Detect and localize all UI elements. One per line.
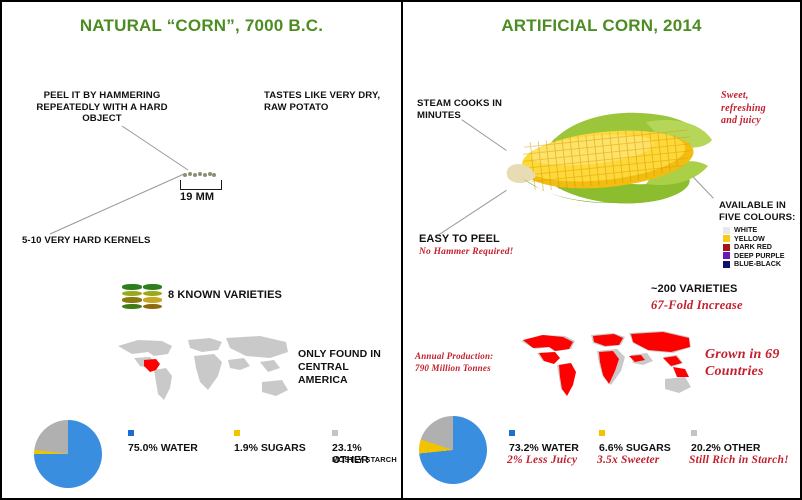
panel-artificial-corn: ARTIFICIAL CORN, 2014 STEAM COOKS IN MIN… [401, 2, 800, 498]
production-line-1: Annual Production: [415, 350, 535, 362]
world-map-svg-right [513, 327, 699, 403]
production-line-2: 790 Million Tonnes [415, 362, 535, 374]
corn-cob-photo [496, 106, 720, 214]
swatch-dark-red [723, 244, 730, 251]
left-panel-title: NATURAL “CORN”, 7000 B.C. [2, 16, 401, 36]
legend-sub-other-right: Still Rich in Starch! [689, 454, 789, 466]
colour-row-blue-black: BLUE-BLACK [723, 260, 785, 269]
ancient-corn-cob-icon [183, 172, 216, 178]
legend-swatch-sugars-right [599, 430, 605, 436]
legend-label-sugars: 1.9% SUGARS [234, 442, 306, 454]
legend-label-other-right: 20.2% OTHER [691, 442, 760, 454]
panel-natural-corn: NATURAL “CORN”, 7000 B.C. PEEL IT BY HAM… [2, 2, 401, 498]
swatch-yellow [723, 235, 730, 242]
script-sweet-refreshing: Sweet, refreshing and juicy [721, 90, 801, 128]
grown-line-2: Countries [705, 363, 801, 380]
pie-chart-natural-composition [34, 420, 102, 488]
label-easy-to-peel: EASY TO PEEL [419, 234, 539, 246]
infographic-root: NATURAL “CORN”, 7000 B.C. PEEL IT BY HAM… [0, 0, 802, 500]
label-hard-kernels: 5-10 VERY HARD KERNELS [22, 235, 202, 247]
label-8-known-varieties: 8 KNOWN VARIETIES [168, 290, 328, 302]
script-grown-in-69-countries: Grown in 69 Countries [705, 346, 801, 380]
legend-label-water: 75.0% WATER [128, 442, 198, 454]
legend-label-sugars-right: 6.6% SUGARS [599, 442, 671, 454]
script-no-hammer-required: No Hammer Required! [419, 247, 559, 257]
legend-sub-water-right: 2% Less Juicy [507, 454, 577, 466]
label-taste: TASTES LIKE VERY DRY, RAW POTATO [264, 90, 394, 113]
legend-sub-other: MOSTLY STARCH [332, 455, 397, 464]
legend-swatch-other [332, 430, 338, 436]
measure-brace-19mm [180, 180, 222, 190]
legend-swatch-water-right [509, 430, 515, 436]
script-line-2: refreshing [721, 103, 801, 116]
world-map-natural [110, 332, 296, 404]
script-line-3: and juicy [721, 115, 801, 128]
grown-line-1: Grown in 69 [705, 346, 801, 363]
label-200-varieties: ~200 VARIETIES [651, 284, 791, 296]
label-size-19mm: 19 MM [180, 192, 240, 204]
legend-label-water-right: 73.2% WATER [509, 442, 579, 454]
world-map-svg [110, 332, 296, 404]
colour-label-blue-black: BLUE-BLACK [734, 259, 781, 268]
corn-cob-svg [496, 106, 720, 214]
label-available-five-colours: AVAILABLE IN FIVE COLOURS: [719, 200, 802, 223]
right-panel-title: ARTIFICIAL CORN, 2014 [403, 16, 800, 36]
world-map-artificial [513, 327, 699, 403]
legend-sub-sugars-right: 3.5x Sweeter [597, 454, 659, 466]
label-only-central-america: ONLY FOUND IN CENTRAL AMERICA [298, 348, 390, 387]
script-67-fold-increase: 67-Fold Increase [651, 298, 801, 313]
script-annual-production: Annual Production: 790 Million Tonnes [415, 350, 535, 374]
swatch-blue-black [723, 261, 730, 268]
legend-swatch-water [128, 430, 134, 436]
legend-swatch-other-right [691, 430, 697, 436]
swatch-deep-purple [723, 252, 730, 259]
script-line-1: Sweet, [721, 90, 801, 103]
label-peel-instruction: PEEL IT BY HAMMERING REPEATEDLY WITH A H… [22, 90, 182, 125]
colour-legend: WHITE YELLOW DARK RED DEEP PURPLE BLUE-B… [723, 226, 785, 269]
legend-swatch-sugars [234, 430, 240, 436]
varieties-icon-8 [122, 284, 162, 309]
pie-chart-artificial-composition [419, 416, 487, 484]
swatch-white [723, 227, 730, 234]
